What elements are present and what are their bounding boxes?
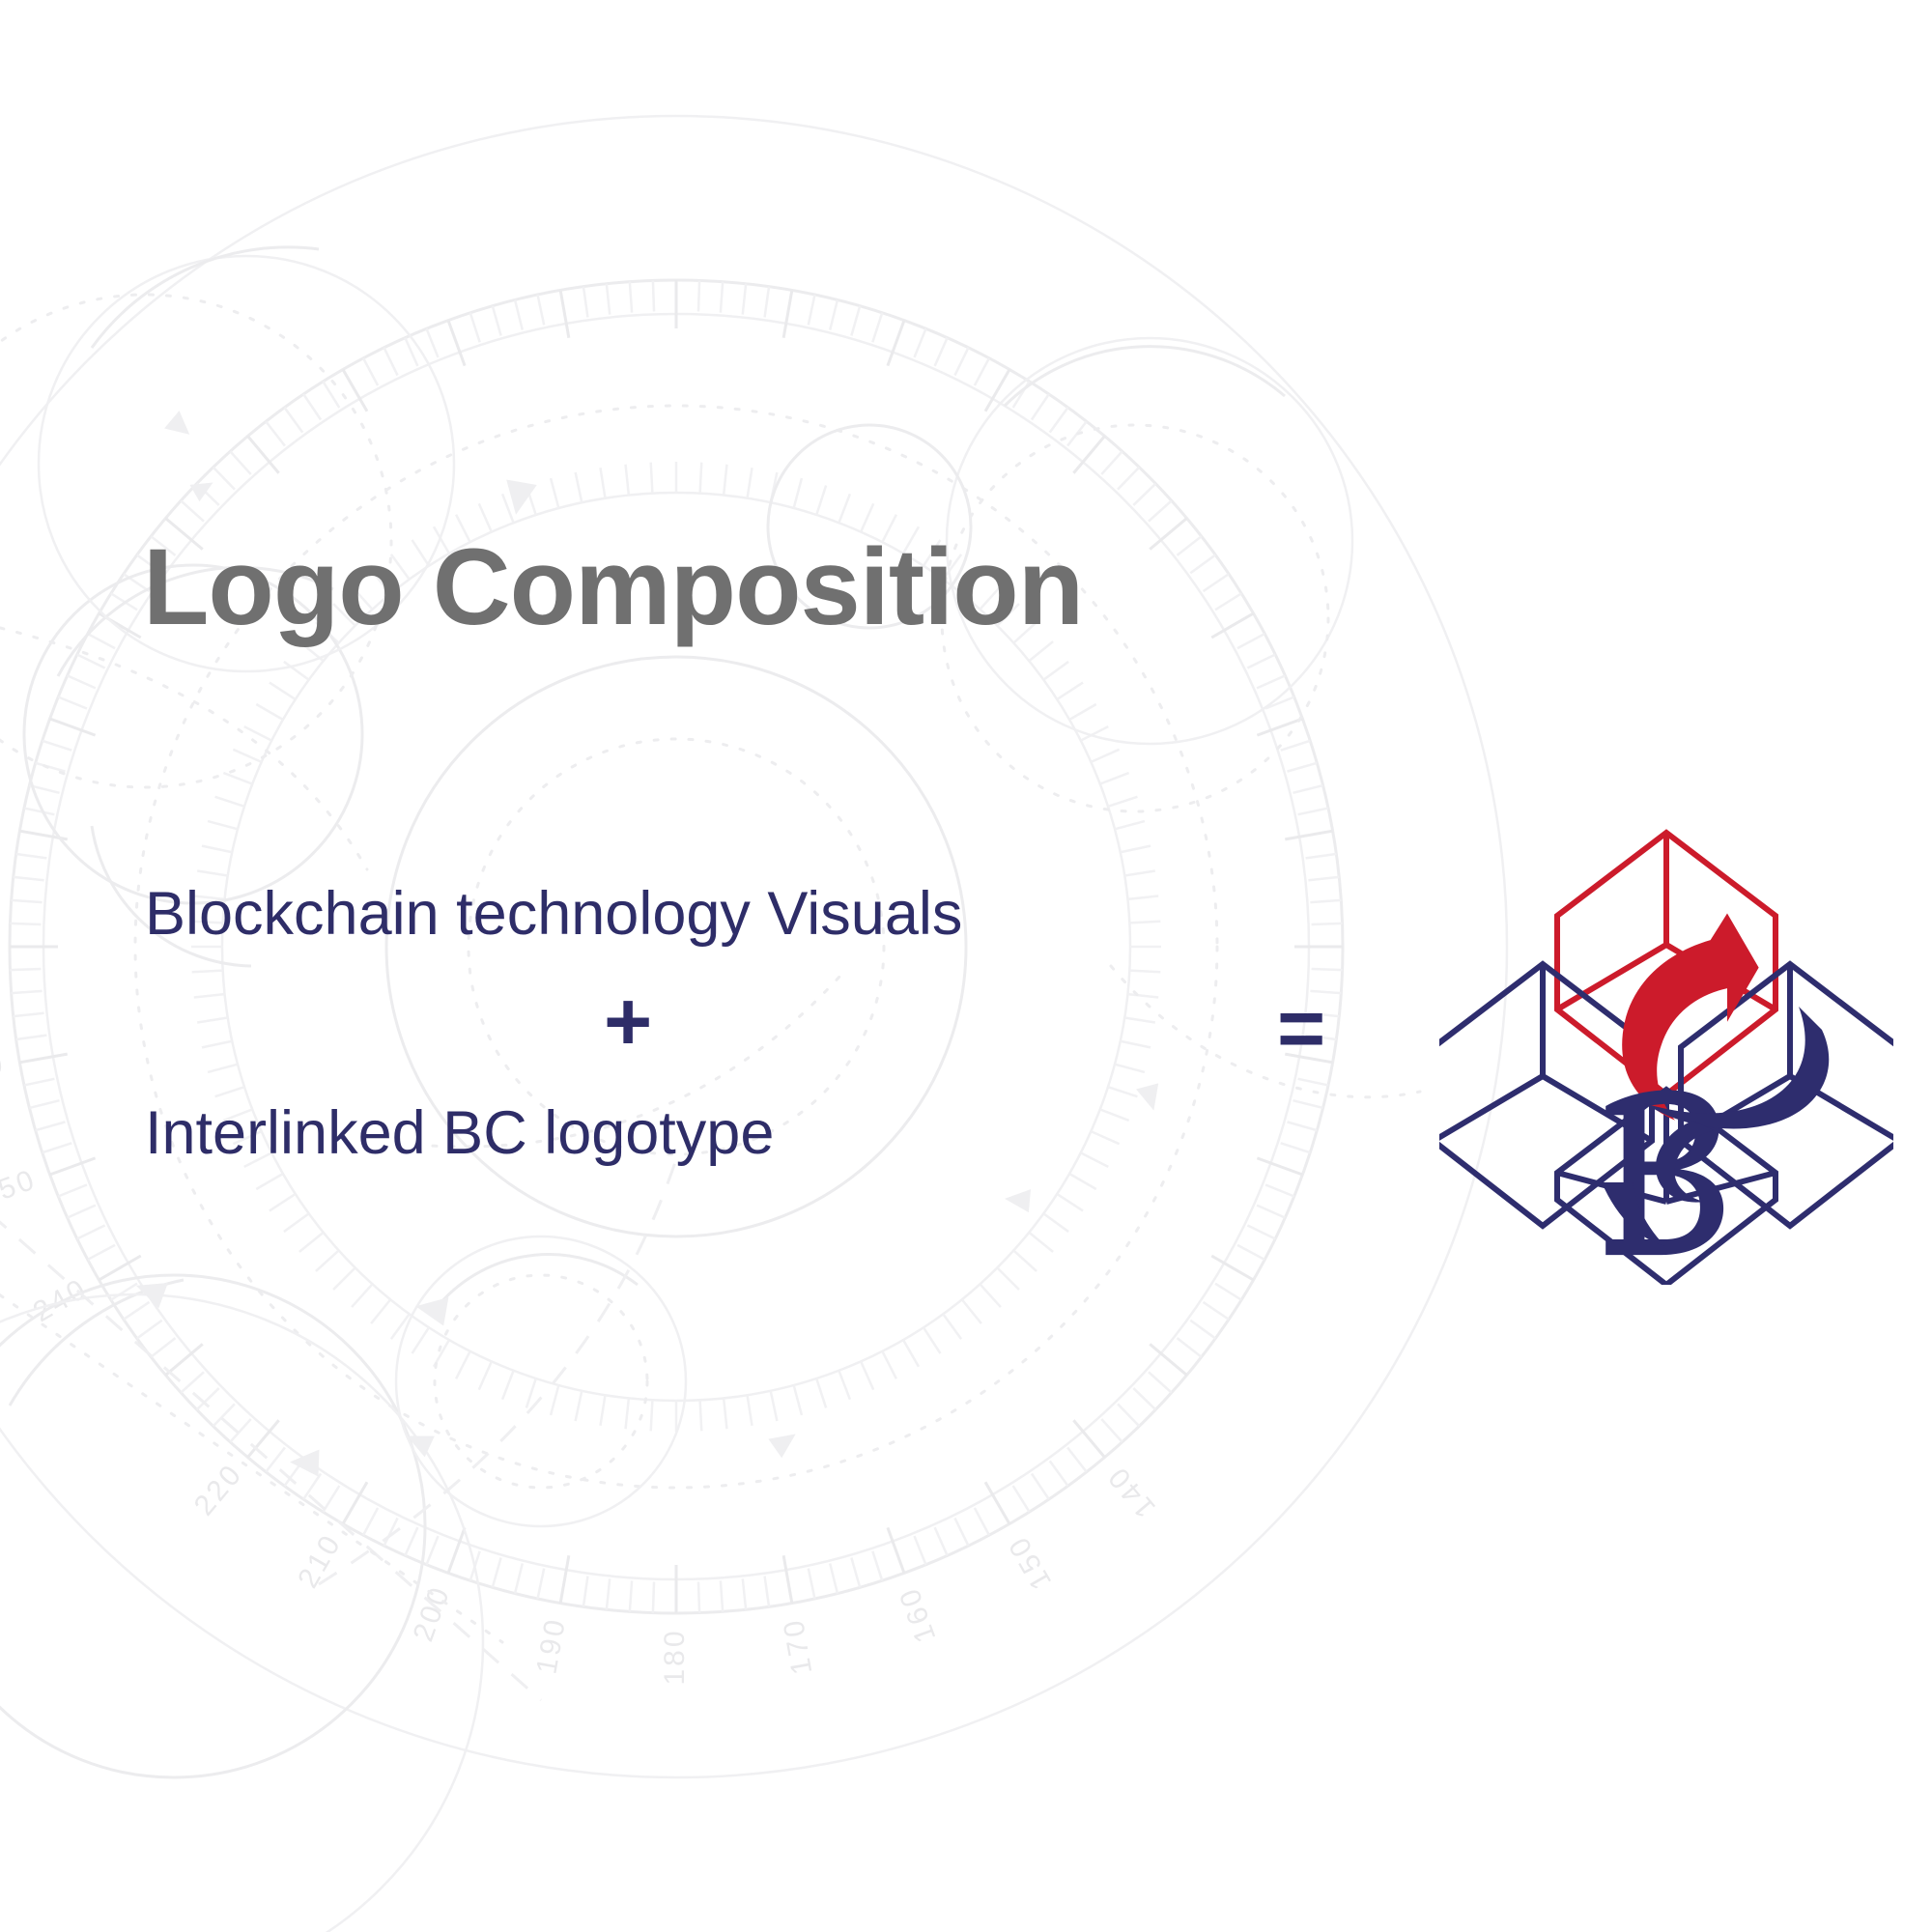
compass-degree-label: 170 [778, 1615, 819, 1677]
compass-degree-label: 160 [893, 1582, 942, 1647]
compass-degree-label: 190 [530, 1615, 572, 1677]
compass-degree-label: 250 [0, 1163, 41, 1212]
slide-canvas: .ln{fill:none;stroke:#ECECEE;stroke-widt… [0, 0, 1932, 1932]
formula-term-2: Interlinked BC logotype [145, 1103, 774, 1164]
decorative-arcs-bottom-left [0, 1188, 541, 1932]
formula-term-1: Blockchain technology Visuals [145, 884, 962, 945]
formula-equals-operator: = [1277, 987, 1325, 1070]
bc-blockchain-logo [1439, 792, 1893, 1285]
compass-degree-label: 240 [28, 1272, 94, 1328]
compass-degree-label: 140 [1101, 1460, 1162, 1523]
formula-plus-operator: + [604, 980, 652, 1064]
compass-degree-label: 220 [188, 1458, 249, 1521]
compass-degree-label: 260 [0, 1048, 8, 1090]
compass-degree-label: 210 [292, 1528, 348, 1594]
page-title: Logo Composition [143, 533, 1083, 641]
compass-degree-label: 150 [1002, 1529, 1058, 1595]
compass-degree-label: 180 [659, 1628, 691, 1685]
monogram-letter-c [1622, 914, 1758, 1121]
compass-degree-label: 200 [408, 1581, 457, 1646]
